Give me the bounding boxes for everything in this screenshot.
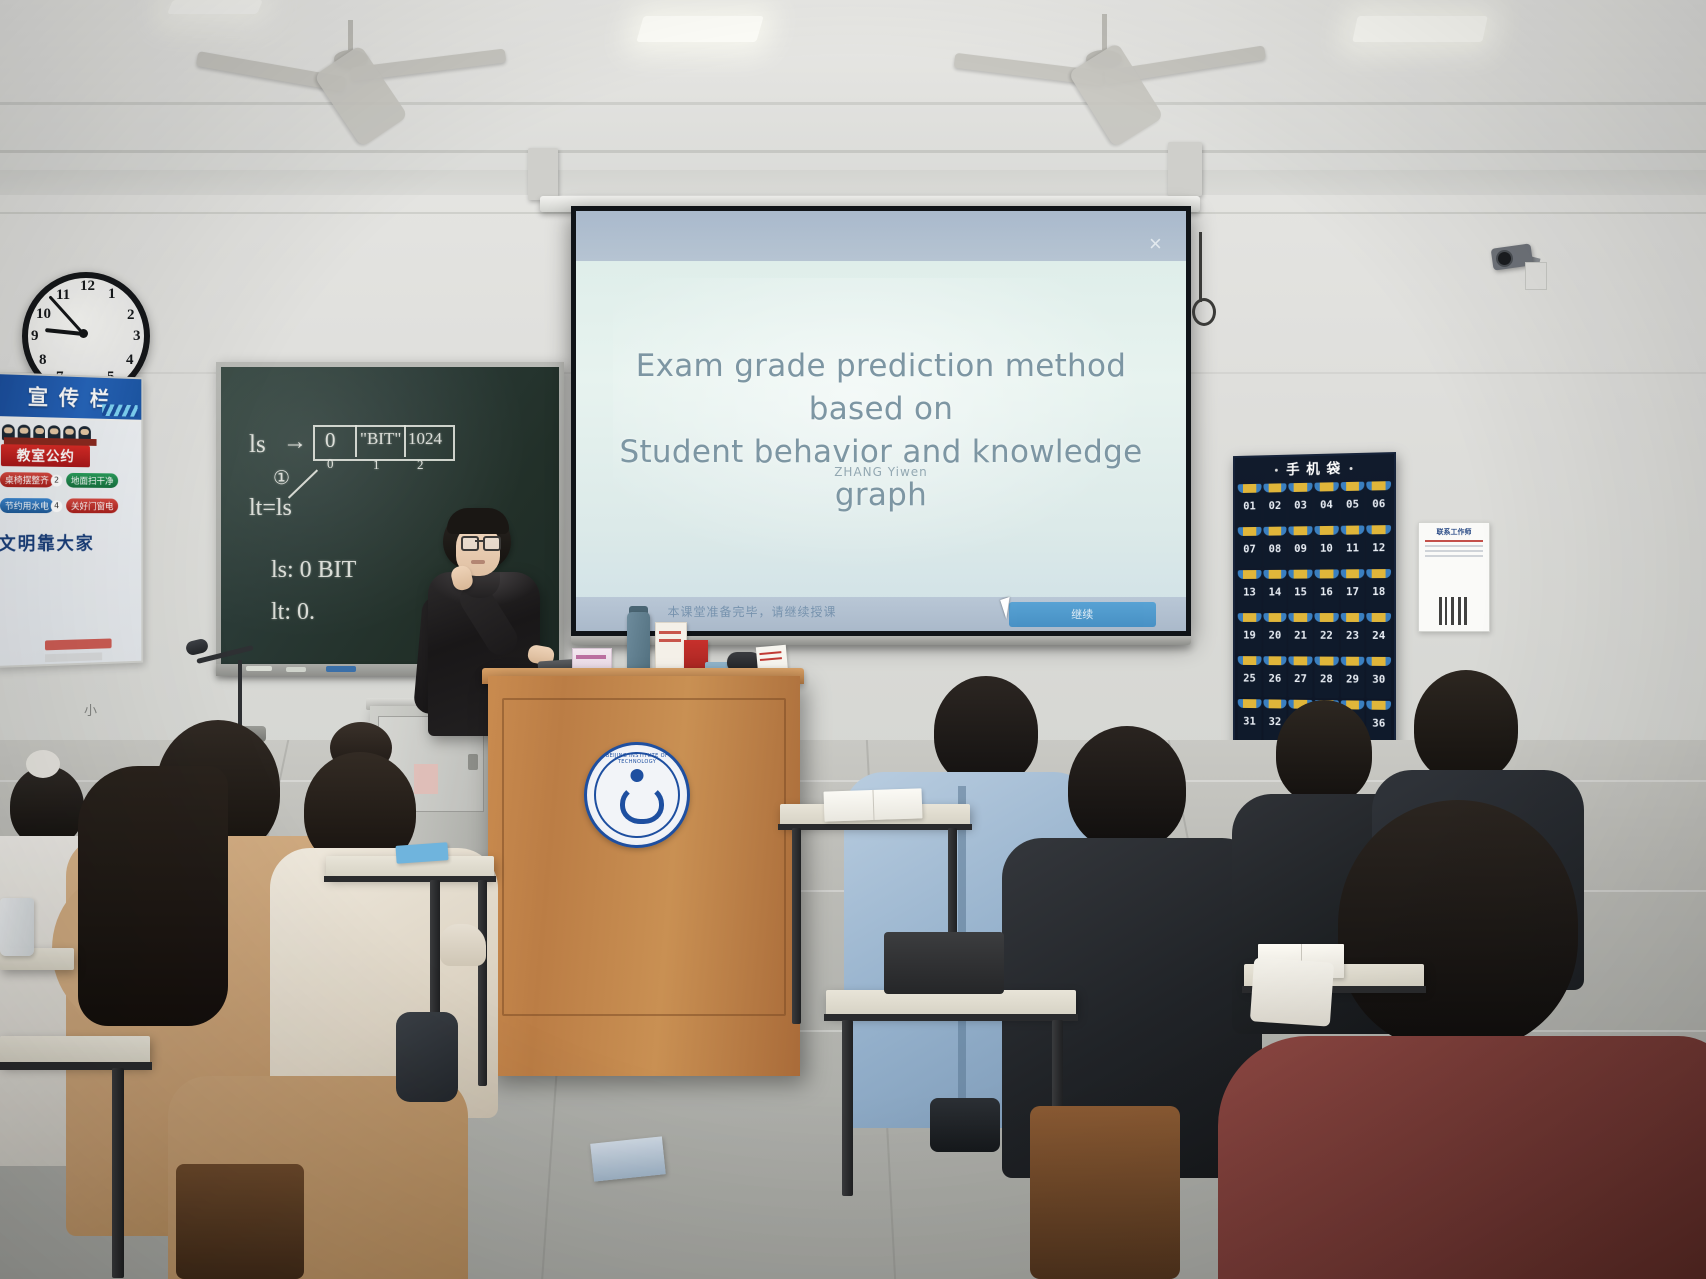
phone-pocket-slot-number: 17 (1340, 585, 1364, 598)
phone-pocket-slot[interactable]: 11 (1340, 525, 1364, 567)
phone-pocket-slot-number: 25 (1238, 672, 1261, 685)
phone-pocket-slot-number: 29 (1340, 673, 1364, 686)
bag-on-desk (440, 924, 486, 966)
phone-pocket-slot[interactable]: 06 (1367, 481, 1391, 523)
board-eraser (326, 666, 356, 672)
phone-pocket-slot[interactable]: 16 (1314, 569, 1338, 611)
clock-numeral: 11 (56, 287, 70, 304)
continue-button[interactable]: 继续 (1009, 602, 1155, 627)
desk-leg (792, 828, 801, 1024)
phone-pocket-slot[interactable]: 07 (1238, 527, 1261, 568)
hair-tie-icon (26, 750, 60, 778)
poster-line (1425, 540, 1483, 542)
camera-lens-icon (1496, 250, 1513, 267)
continue-button-label: 继续 (1071, 606, 1093, 622)
phone-pocket-slot[interactable]: 08 (1263, 527, 1287, 568)
phone-pocket-slot[interactable]: 17 (1340, 569, 1364, 611)
chalk-index: 1 (373, 457, 380, 473)
phone-pocket-slot[interactable]: 13 (1238, 570, 1261, 611)
white-bag (1250, 957, 1334, 1026)
wall-clock: 12 1 2 3 4 5 6 7 8 9 10 11 (22, 272, 152, 372)
bulletin-board-title: 宣 传 栏 (28, 381, 112, 413)
clock-numeral: 4 (126, 352, 134, 369)
phone-pocket-slot[interactable]: 01 (1238, 484, 1261, 525)
phone-pocket-slot-number: 14 (1263, 586, 1287, 599)
phone-pocket-slot-number: 02 (1263, 499, 1287, 512)
emblem-figure-icon (616, 769, 658, 823)
teacher-mouth (471, 560, 485, 564)
phone-pocket-slot-number: 28 (1314, 672, 1338, 685)
chalk-index: 0 (327, 456, 334, 472)
desk-edge (824, 1014, 1078, 1021)
wall-plate (1525, 262, 1547, 290)
chalk-result-line: lt: 0. (271, 599, 315, 626)
chalk-arrow: → (283, 429, 307, 456)
clock-numeral: 1 (108, 286, 116, 303)
emblem-text: BEIJING INSTITUTE OF TECHNOLOGY (587, 753, 687, 765)
phone-pocket-slot-number: 15 (1289, 585, 1313, 598)
phone-pocket-slot-number: 05 (1340, 498, 1364, 511)
phone-pocket-slot[interactable]: 03 (1289, 483, 1313, 525)
backpack (396, 1012, 458, 1102)
screen-mount-left (528, 148, 558, 200)
podium: BEIJING INSTITUTE OF TECHNOLOGY (488, 676, 800, 1076)
chalk-assignment: lt=ls (249, 495, 292, 522)
chalk-index: 2 (417, 457, 424, 473)
bulletin-board-header: 宣 传 栏 (0, 374, 141, 420)
phone-pocket-slot[interactable]: 24 (1367, 613, 1391, 655)
phone-pocket-slot-number: 24 (1367, 629, 1391, 642)
clock-center (79, 329, 88, 338)
ceiling-fan (200, 20, 500, 130)
wooden-chair-back (176, 1164, 304, 1279)
rule-text: 关好门窗电 (71, 499, 114, 512)
phone-pocket-slot-number: 20 (1263, 629, 1287, 642)
student-head (1338, 800, 1578, 1050)
phone-pocket-slot[interactable]: 14 (1263, 570, 1287, 611)
phone-pocket-slot[interactable]: 05 (1340, 482, 1364, 524)
phone-pocket-slot[interactable]: 02 (1263, 483, 1287, 525)
phone-pocket-slot-number: 21 (1289, 629, 1313, 642)
phone-pocket-slot-number: 08 (1263, 542, 1287, 555)
phone-pocket-slot[interactable]: 19 (1238, 613, 1261, 654)
ceiling-light (636, 16, 763, 42)
qr-code-icon (1439, 597, 1467, 625)
phone-pocket-slot-number: 11 (1340, 541, 1364, 554)
clock-numeral: 2 (127, 307, 135, 324)
slide-top-band (576, 211, 1186, 261)
phone-pocket-slot-number: 26 (1263, 672, 1287, 685)
phone-pocket-slot-number: 18 (1367, 585, 1391, 598)
rule-item: 3 节约用水电 (0, 498, 54, 513)
desk-leg (842, 1020, 853, 1196)
university-emblem: BEIJING INSTITUTE OF TECHNOLOGY (584, 742, 690, 848)
phone-pocket-slot[interactable]: 27 (1289, 656, 1313, 698)
rule-item: 1 桌椅摆整齐 (0, 472, 54, 488)
phone-pocket-slot[interactable]: 28 (1314, 657, 1338, 699)
phone-pocket-title: 手 机 袋 (1286, 458, 1341, 479)
chalk-pointer-line (288, 469, 318, 498)
phone-pocket-slot-number: 13 (1238, 586, 1261, 599)
chalk-stick (286, 667, 306, 672)
rule-text: 节约用水电 (5, 499, 49, 512)
phone-pocket-slot-number: 07 (1238, 543, 1261, 556)
desk-edge (778, 824, 972, 830)
desk-leg (478, 880, 487, 1086)
rule-text: 地面扫干净 (71, 474, 114, 487)
open-book (824, 788, 923, 821)
phone-pocket-slot-number: 06 (1367, 497, 1391, 510)
ceiling-fan (960, 14, 1260, 134)
chalk-result-line: ls: 0 BIT (271, 557, 356, 584)
poster-line (1425, 555, 1483, 557)
clock-numeral: 9 (31, 328, 39, 345)
student-head (1276, 700, 1372, 804)
bulletin-slogan: 文明靠大家 (0, 530, 113, 556)
projector-screen: × Exam grade prediction method based on … (571, 206, 1191, 636)
desk-edge (324, 876, 496, 882)
phone-pocket-slot-number: 10 (1314, 542, 1338, 555)
board-logo (45, 638, 112, 650)
phone-pocket-slot-number: 22 (1314, 629, 1338, 642)
ceiling-light (167, 0, 263, 14)
bag-under-desk (930, 1098, 1000, 1152)
rule-text: 桌椅摆整齐 (5, 473, 49, 486)
teacher-hair-front (447, 508, 509, 534)
chalk-array-divider (404, 425, 406, 457)
phone-pocket-slot-number: 03 (1289, 499, 1313, 512)
chalk-stick (246, 666, 272, 671)
contact-poster: 联系工作师 (1418, 522, 1490, 632)
chalk-array-divider (355, 425, 357, 457)
phone-pocket-slot[interactable]: 22 (1314, 613, 1338, 655)
phone-pocket-header: 手 机 袋 (1235, 454, 1394, 483)
clock-numeral: 3 (133, 328, 141, 345)
chalk-variable-ls: ls (249, 431, 266, 459)
slide-footer-message: 本课堂准备完毕，请继续授课 (668, 603, 837, 620)
rule-item: 2 地面扫干净 (51, 473, 118, 488)
clock-numeral: 12 (80, 278, 95, 295)
board-logo-secondary (45, 652, 102, 662)
slide-title-line1: Exam grade prediction method based on (600, 345, 1161, 431)
chalk-cell-value: 1024 (408, 429, 442, 449)
phone-pocket-slot[interactable]: 21 (1289, 613, 1313, 654)
student-foreground-maroon (1258, 800, 1706, 1279)
chalk-circled-one: ① (273, 467, 290, 490)
phone-pocket-slot-number: 04 (1314, 498, 1338, 511)
glass-jar (0, 898, 34, 956)
chalk-array-box (313, 425, 455, 461)
book-on-floor (590, 1136, 666, 1181)
student-head (1068, 726, 1186, 850)
clock-numeral: 10 (36, 306, 51, 323)
phone-pocket-slot[interactable]: 04 (1314, 482, 1338, 524)
header-decoration (102, 404, 137, 417)
phone-pocket-slot[interactable]: 20 (1263, 613, 1287, 654)
student-long-hair (78, 766, 228, 1026)
screen-mount-right (1168, 142, 1202, 196)
poster-line (1425, 550, 1483, 552)
chalk-cell-value: "BIT" (360, 429, 401, 449)
phone-pocket-slot[interactable]: 23 (1340, 613, 1364, 655)
phone-pocket-slot-number: 23 (1340, 629, 1364, 642)
bulletin-board: 宣 传 栏 教室公约 1 桌椅摆整齐 2 地面扫干净 (0, 372, 143, 668)
poster-title: 联系工作师 (1423, 527, 1485, 537)
chair-back (884, 932, 1004, 994)
bulletin-board-body: 教室公约 1 桌椅摆整齐 2 地面扫干净 3 节约用水电 (0, 418, 141, 666)
close-icon[interactable]: × (1144, 233, 1166, 255)
desk-edge (0, 1062, 152, 1070)
clock-numeral: 8 (39, 352, 47, 369)
phone-pocket-slot-number: 16 (1314, 585, 1338, 598)
wooden-chair-back (1030, 1106, 1180, 1279)
screen-pull-cord[interactable] (1199, 232, 1202, 302)
phone-pocket-slot[interactable]: 18 (1367, 569, 1391, 611)
chalk-cell-value: 0 (325, 428, 336, 453)
poster-line (1425, 545, 1483, 547)
phone-pocket-slot[interactable]: 26 (1263, 656, 1287, 697)
phone-pocket-slot[interactable]: 10 (1314, 526, 1338, 568)
teacher-glasses (461, 536, 497, 547)
phone-pocket-slot-number: 19 (1238, 629, 1261, 642)
ceiling-seam (0, 150, 1706, 153)
phone-pocket-slot-number: 01 (1238, 499, 1261, 512)
screen-pull-hook-icon[interactable] (1192, 298, 1216, 326)
blue-pencil-case (395, 842, 448, 864)
phone-pocket-slot[interactable]: 15 (1289, 570, 1313, 612)
classroom-rules-title: 教室公约 (1, 444, 90, 467)
phone-pocket-slot-number: 12 (1367, 541, 1391, 554)
phone-pocket-slot-number: 27 (1289, 672, 1313, 685)
projected-slide: × Exam grade prediction method based on … (576, 211, 1186, 631)
phone-pocket-slot[interactable]: 12 (1367, 525, 1391, 567)
student-torso (1218, 1036, 1706, 1279)
cartoon-students-icon (2, 420, 91, 442)
phone-pocket-slot[interactable]: 25 (1238, 656, 1261, 697)
desk-leg (112, 1068, 124, 1278)
student-dark-jacket (1012, 726, 1252, 1166)
phone-pocket-slot-number: 09 (1289, 542, 1313, 555)
classroom-photo: 12 1 2 3 4 5 6 7 8 9 10 11 宣 传 栏 教室公约 (0, 0, 1706, 1279)
slide-author: ZHANG Yiwen (576, 465, 1186, 479)
ceiling-light (1352, 16, 1488, 42)
student-head (1414, 670, 1518, 782)
rule-item: 4 关好门窗电 (51, 498, 118, 513)
phone-pocket-slot[interactable]: 09 (1289, 526, 1313, 568)
phone-pocket-slot[interactable]: 29 (1340, 657, 1364, 699)
slide-title: Exam grade prediction method based on St… (600, 345, 1161, 516)
